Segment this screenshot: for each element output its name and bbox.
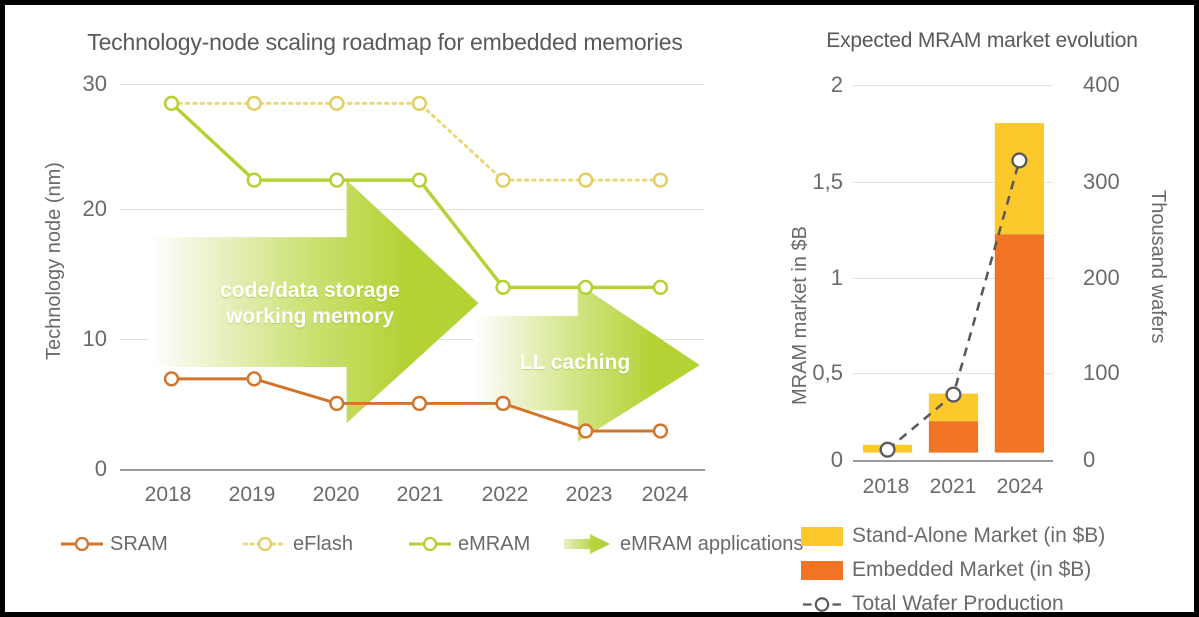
left-ytick-10: 10: [45, 326, 107, 352]
right-ytick-right-300: 300: [1083, 169, 1153, 195]
bar-standalone-2024: [995, 123, 1044, 234]
right-ytick-right-0: 0: [1083, 447, 1153, 473]
legend-label-sram: SRAM: [110, 533, 168, 556]
bar-standalone-2021: [929, 394, 978, 422]
right-ytick-right-100: 100: [1083, 360, 1153, 386]
left-ytick-0: 0: [45, 456, 107, 482]
left-xtick-2023: 2023: [549, 483, 629, 507]
gridline-10: [120, 339, 705, 340]
bar-group-2018: [863, 445, 912, 453]
legend-label-emram: eMRAM: [458, 533, 530, 556]
right-gridline-1.5: [853, 182, 1053, 183]
bar-standalone-2018: [863, 445, 912, 453]
left-chart-legend: SRAM eFlash eMRAM eMRA: [60, 527, 750, 561]
right-ytick-left-0: 0: [775, 447, 843, 473]
right-xtick-2024: 2024: [980, 475, 1060, 499]
gridline-20: [120, 209, 705, 210]
legend-item-total-wafer-production[interactable]: Total Wafer Production: [801, 587, 1181, 617]
arrow-right-icon: [560, 532, 614, 556]
bar-group-2024: [995, 123, 1044, 453]
bar-embedded-2021: [929, 421, 978, 452]
gridline-30: [120, 84, 705, 85]
right-x-baseline: [853, 460, 1053, 462]
swatch-stand-alone-icon: [801, 527, 843, 546]
right-chart-title: Expected MRAM market evolution: [765, 29, 1199, 53]
left-x-baseline: [120, 469, 705, 471]
legend-label-stand-alone-market: Stand-Alone Market (in $B): [852, 524, 1105, 548]
right-ytick-left-0_5: 0,5: [775, 360, 843, 386]
right-ytick-right-400: 400: [1083, 72, 1153, 98]
left-ytick-20: 20: [45, 196, 107, 222]
right-chart-panel: Expected MRAM market evolution MRAM mark…: [765, 5, 1199, 612]
right-ytick-left-1_5: 1,5: [775, 169, 843, 195]
legend-item-stand-alone-market[interactable]: Stand-Alone Market (in $B): [801, 519, 1181, 553]
emram-line-marker-icon: [408, 534, 452, 554]
right-ytick-left-1: 1: [775, 265, 843, 291]
series-emram: [165, 97, 667, 294]
left-xtick-2022: 2022: [465, 483, 545, 507]
right-gridline-1: [853, 278, 1053, 279]
left-xtick-2018: 2018: [128, 483, 208, 507]
series-eflash: [165, 97, 667, 187]
swatch-embedded-icon: [801, 561, 843, 580]
left-xtick-2019: 2019: [212, 483, 292, 507]
legend-item-embedded-market[interactable]: Embedded Market (in $B): [801, 553, 1181, 587]
legend-label-embedded-market: Embedded Market (in $B): [852, 558, 1091, 582]
legend-label-total-wafer-production: Total Wafer Production: [852, 592, 1064, 616]
left-xtick-2024: 2024: [625, 483, 705, 507]
arrow-label-code-data-storage: code/data storage working memory: [185, 278, 435, 330]
legend-item-sram[interactable]: SRAM: [60, 527, 168, 561]
right-gridline-0.5: [853, 373, 1053, 374]
series-total-wafer-production: [881, 154, 1027, 457]
bar-embedded-2024: [995, 234, 1044, 452]
dashed-circle-marker-icon: [801, 595, 843, 614]
eflash-line-marker-icon: [243, 534, 287, 554]
wafer-marker-2021: [947, 388, 961, 402]
right-chart-legend: Stand-Alone Market (in $B) Embedded Mark…: [801, 519, 1181, 617]
legend-item-emram[interactable]: eMRAM: [408, 527, 530, 561]
wafer-marker-2018: [881, 443, 895, 457]
left-chart-title: Technology-node scaling roadmap for embe…: [5, 29, 765, 56]
right-ytick-left-2: 2: [775, 72, 843, 98]
bar-group-2021: [929, 394, 978, 453]
legend-label-eflash: eFlash: [293, 533, 353, 556]
left-ytick-30: 30: [45, 71, 107, 97]
series-sram: [165, 372, 667, 437]
right-gridline-2: [853, 85, 1053, 86]
legend-item-eflash[interactable]: eFlash: [243, 527, 353, 561]
left-xtick-2021: 2021: [380, 483, 460, 507]
left-xtick-2020: 2020: [296, 483, 376, 507]
wafer-marker-2024: [1012, 154, 1026, 168]
right-ytick-right-200: 200: [1083, 265, 1153, 291]
sram-line-marker-icon: [60, 534, 104, 554]
left-chart-panel: Technology-node scaling roadmap for embe…: [5, 5, 765, 612]
figure-frame: Technology-node scaling roadmap for embe…: [0, 0, 1199, 617]
arrow-label-ll-caching: LL caching: [495, 350, 655, 376]
